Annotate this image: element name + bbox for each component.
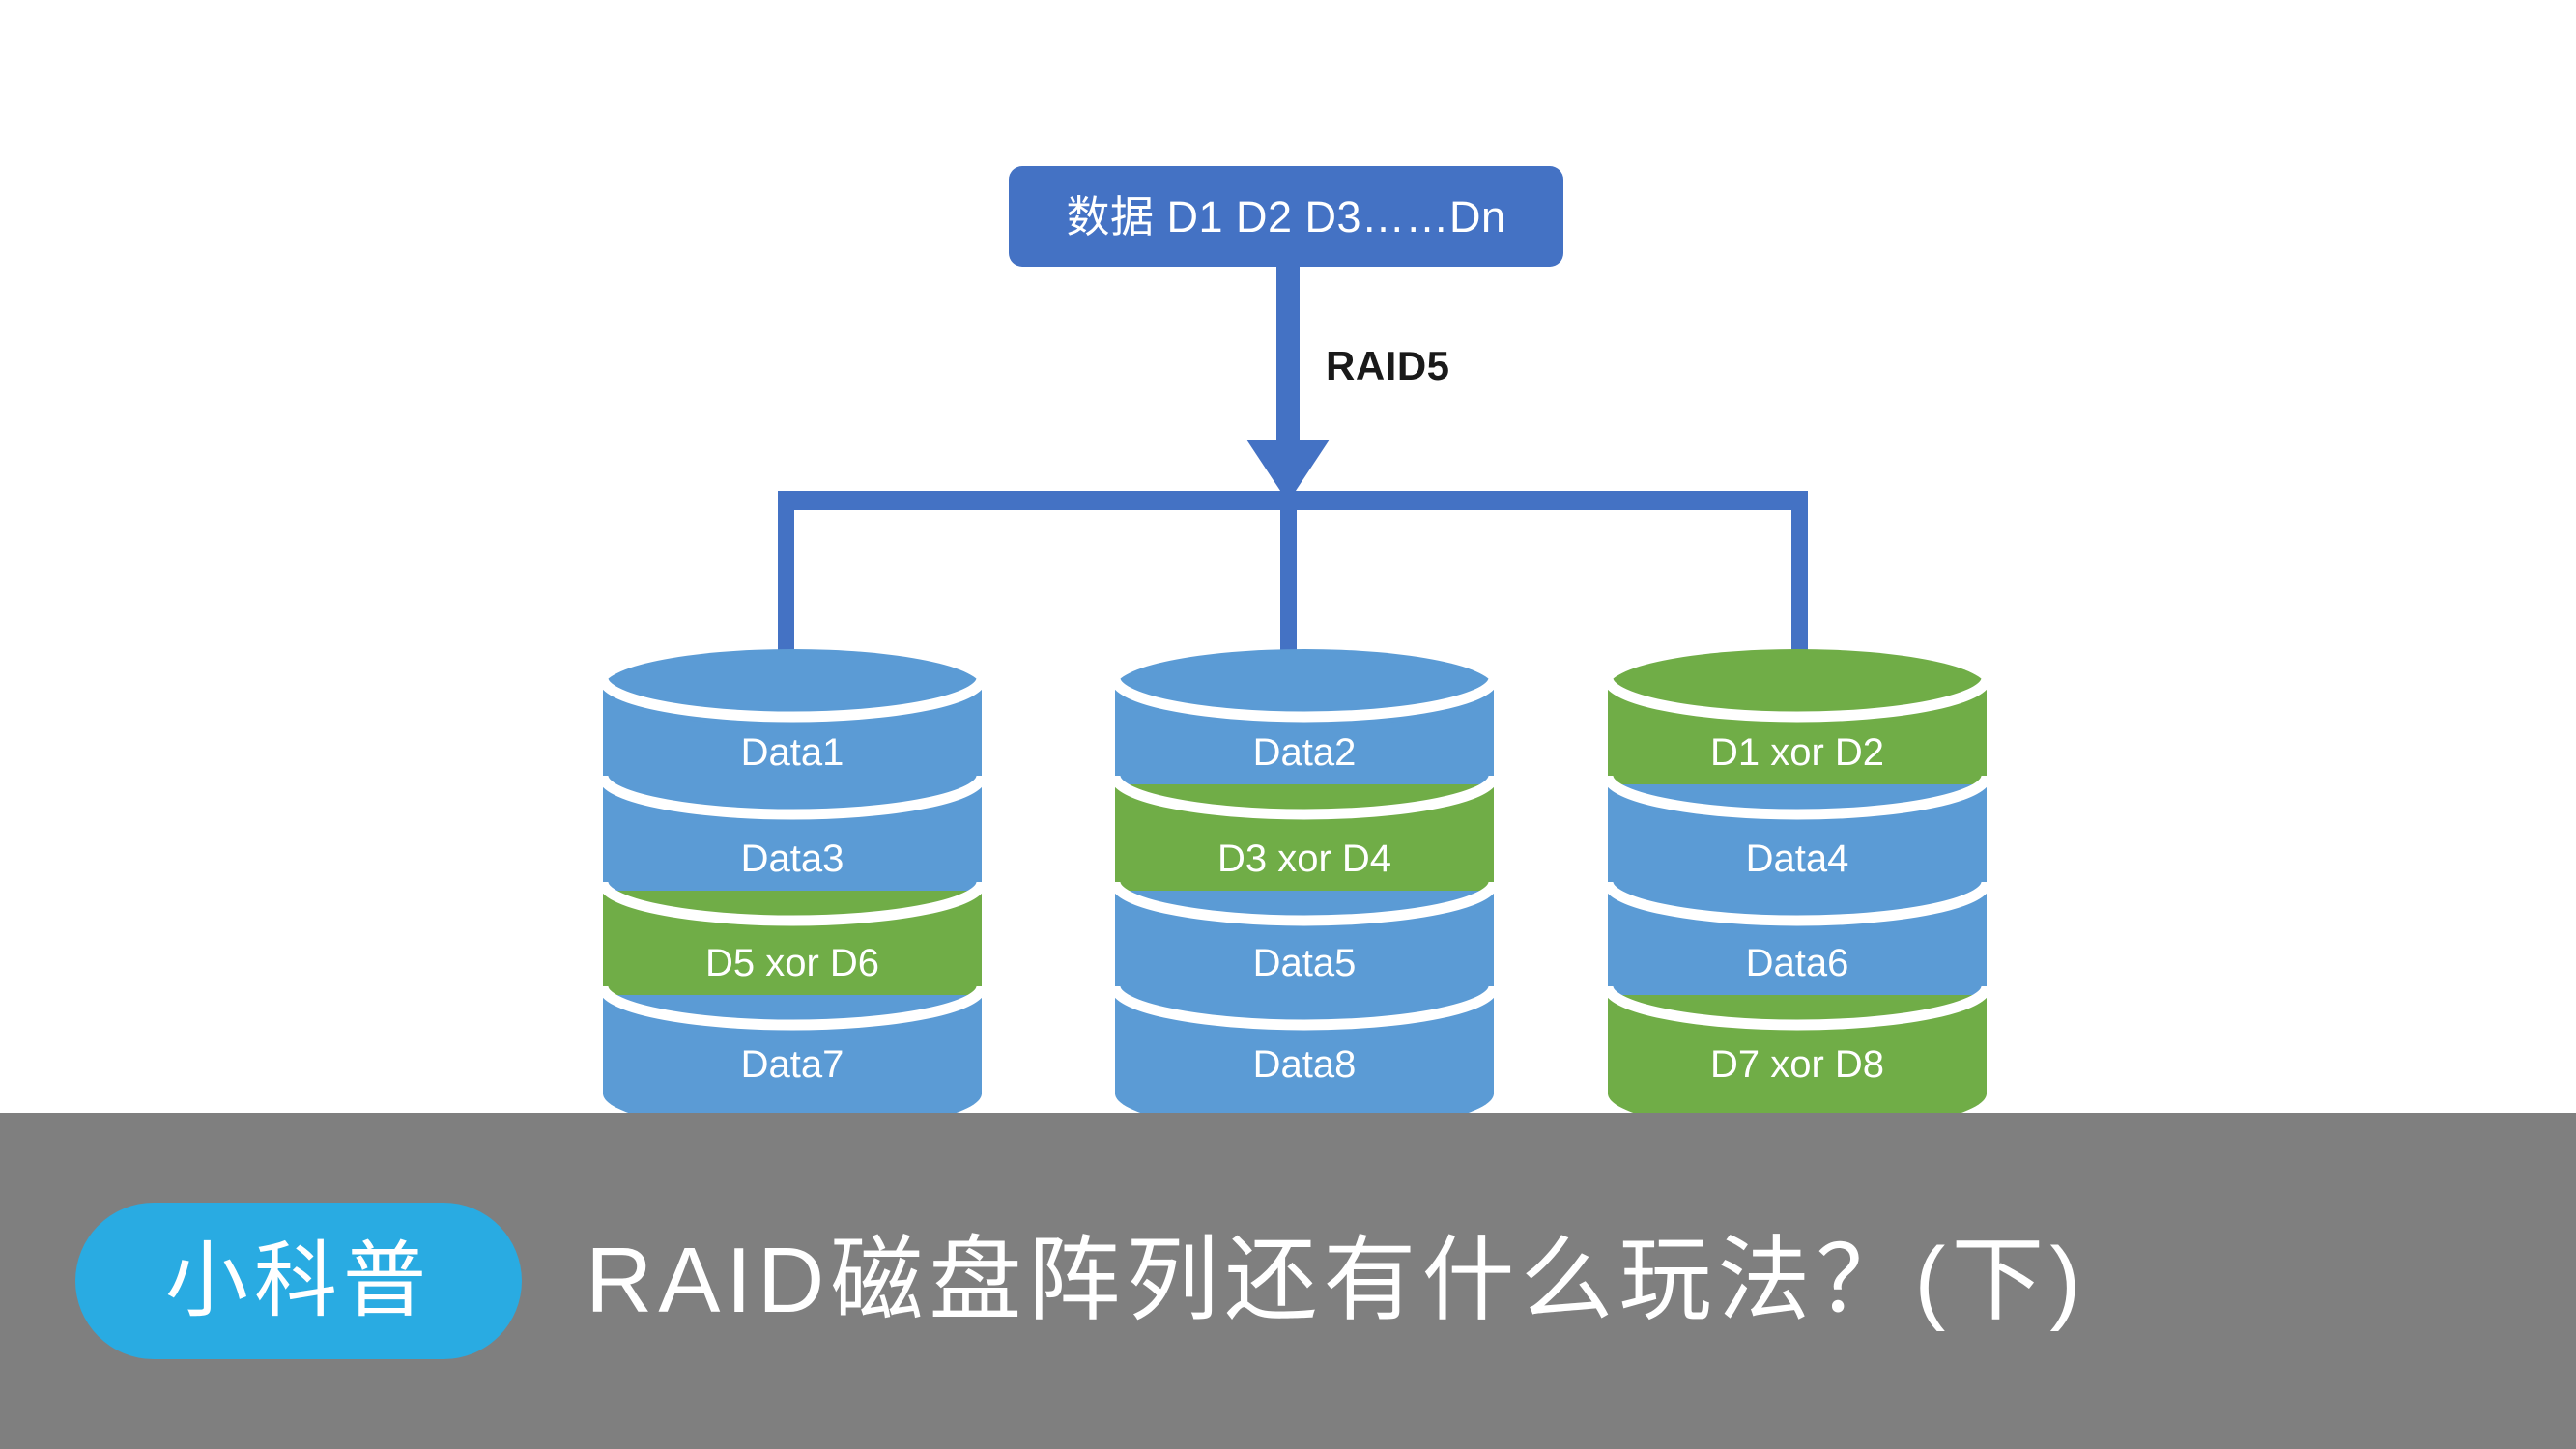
category-badge-label: 小科普 — [165, 1239, 432, 1322]
raid-level-label: RAID5 — [1326, 343, 1450, 389]
disk-cylinder-3: D1 xor D2 Data4 Data6 D7 xor D8 — [1608, 649, 1987, 1113]
drop-line-disk-3 — [1791, 491, 1808, 663]
disk-3-shape — [1608, 649, 1987, 1113]
drop-line-disk-1 — [778, 491, 794, 663]
source-data-box: 数据 D1 D2 D3……Dn — [1009, 166, 1563, 267]
category-badge: 小科普 — [75, 1203, 522, 1359]
source-data-label: 数据 D1 D2 D3……Dn — [1066, 195, 1505, 239]
disk-cylinder-1: Data1 Data3 D5 xor D6 Data7 — [603, 649, 982, 1113]
drop-line-disk-2 — [1280, 491, 1297, 663]
caption-title: RAID磁盘阵列还有什么玩法？(下) — [586, 1235, 2086, 1327]
caption-bar: 小科普 RAID磁盘阵列还有什么玩法？(下) — [0, 1113, 2576, 1449]
disk-cylinder-2: Data2 D3 xor D4 Data5 Data8 — [1115, 649, 1494, 1113]
disk-2-shape — [1115, 649, 1494, 1113]
disk-1-shape — [603, 649, 982, 1113]
raid5-diagram: 数据 D1 D2 D3……Dn RAID5 — [0, 0, 2576, 1113]
screenshot-root: 数据 D1 D2 D3……Dn RAID5 — [0, 0, 2576, 1449]
trunk-line — [1276, 267, 1300, 460]
